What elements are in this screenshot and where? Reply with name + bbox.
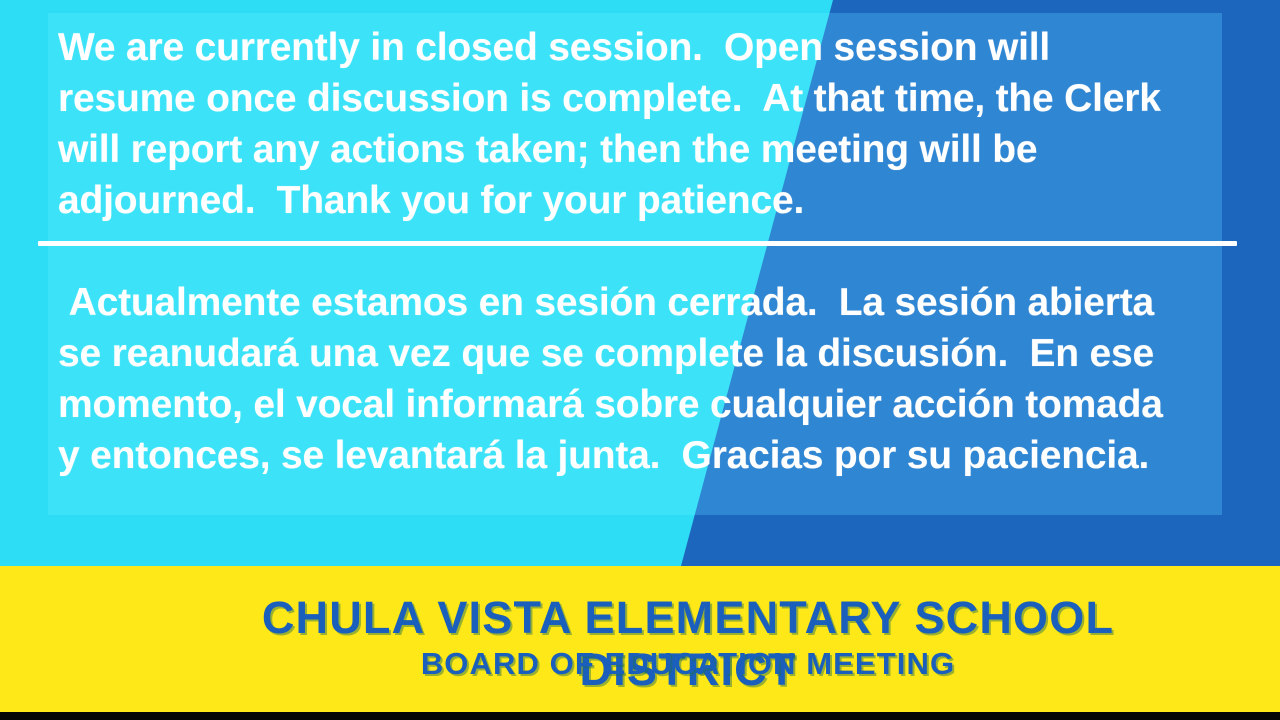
message-stage: We are currently in closed session. Open…: [0, 0, 1280, 566]
spanish-announcement-text: Actualmente estamos en sesión cerrada. L…: [58, 277, 1188, 481]
district-banner: CHULA VISTA ELEMENTARY SCHOOL DISTRICT C…: [0, 566, 1280, 712]
language-divider: [38, 241, 1237, 246]
bottom-letterbox-bar: [0, 712, 1280, 720]
english-announcement-text: We are currently in closed session. Open…: [58, 22, 1188, 226]
meeting-subtitle: BOARD OF EDUCATION MEETING: [168, 646, 1208, 682]
announcement-slide: We are currently in closed session. Open…: [0, 0, 1280, 720]
